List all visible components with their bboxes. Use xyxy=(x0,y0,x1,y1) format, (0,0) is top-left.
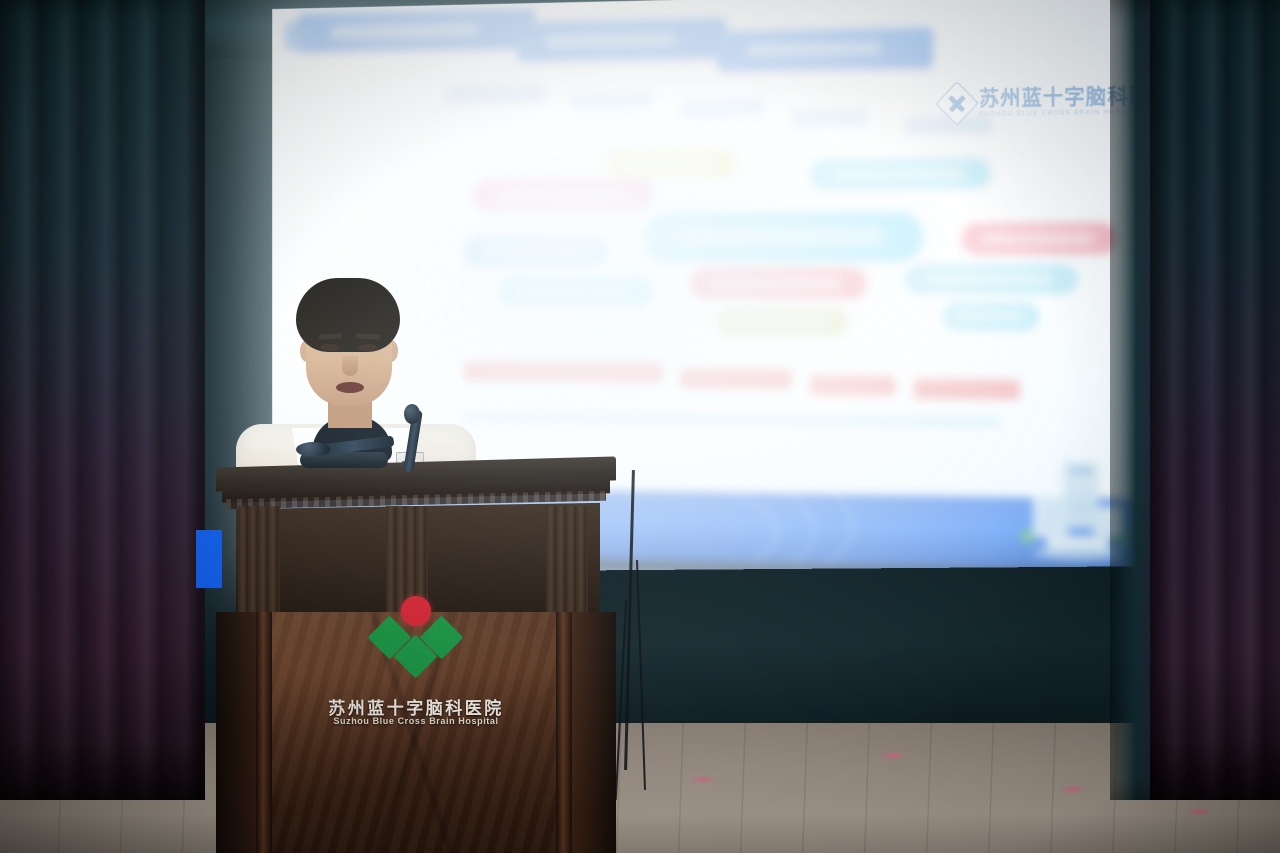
podium-name-en: Suzhou Blue Cross Brain Hospital xyxy=(333,716,498,726)
microphone-head xyxy=(296,442,330,457)
slide-subtitle-line xyxy=(464,413,1000,427)
slide-header-bar-text xyxy=(747,42,881,57)
floor-light-spot xyxy=(1060,785,1086,794)
slide-pill xyxy=(810,158,990,190)
slide-pill xyxy=(464,236,607,266)
slide-header-accent xyxy=(285,22,311,50)
curtain-shadow xyxy=(1150,740,1280,800)
slide-pill-primary xyxy=(644,212,924,263)
podium-pilaster-right xyxy=(556,612,572,853)
slide-red-title xyxy=(464,362,662,382)
slide-pill xyxy=(473,179,653,212)
floor-light-spot xyxy=(1186,807,1212,816)
slide-subhead-item xyxy=(446,86,544,104)
stage-curtain-left xyxy=(0,0,205,800)
curtain-shadow xyxy=(0,740,205,800)
podium-pilaster-left xyxy=(256,612,272,853)
slide-subhead-item xyxy=(680,99,763,117)
hair xyxy=(296,278,400,352)
slide-red-title xyxy=(914,379,1020,399)
hospital-emblem xyxy=(368,596,464,680)
slide-pill xyxy=(608,149,736,179)
stage-curtain-right xyxy=(1150,0,1280,800)
slide-header-bar xyxy=(517,18,726,62)
emblem-red-circle-icon xyxy=(401,596,431,626)
slide-subhead-item xyxy=(792,110,867,128)
slide-pill xyxy=(905,264,1078,294)
slide-subhead-item xyxy=(571,92,653,109)
slide-pill xyxy=(943,303,1039,330)
podium: 苏州蓝十字脑科医院 Suzhou Blue Cross Brain Hospit… xyxy=(216,462,616,853)
slide-header-bar-text xyxy=(546,33,675,48)
slide-header-bar xyxy=(298,9,535,53)
slide-red-title xyxy=(810,375,895,395)
slide-pill xyxy=(500,276,653,305)
microphone-head xyxy=(404,404,420,424)
slide-subhead-item xyxy=(905,117,991,135)
slide-pill xyxy=(962,222,1117,255)
slide-pill xyxy=(717,308,847,335)
floor-light-spot xyxy=(690,775,716,784)
conference-hall-photo: 苏州蓝十字脑科医院 SUZHOU BLUE CROSS BRAIN HOSPIT… xyxy=(0,0,1280,853)
slide-header-bar-text xyxy=(331,24,478,39)
eye-left xyxy=(320,344,339,351)
mouth xyxy=(336,382,364,393)
nose xyxy=(342,356,358,376)
slide-pill xyxy=(690,268,867,300)
eye-right xyxy=(358,344,377,351)
slide-header-bar xyxy=(717,27,933,72)
floor-light-spot xyxy=(880,751,906,760)
slide-red-title xyxy=(680,369,791,389)
